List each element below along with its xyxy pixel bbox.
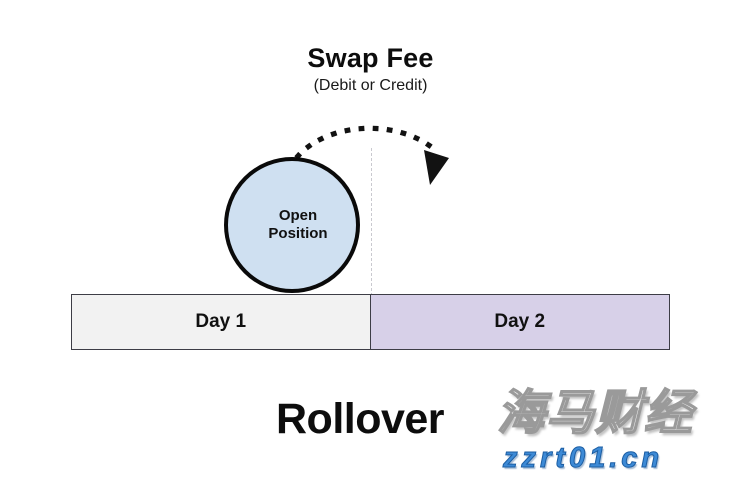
rollover-caption: Rollover [276,398,444,441]
open-position-label: Open Position [256,207,327,244]
title-block: Swap Fee (Debit or Credit) [0,44,741,95]
watermark: 海马财经 zzrt01.cn [497,390,729,482]
page-subtitle: (Debit or Credit) [0,78,741,95]
page-title: Swap Fee [0,44,741,72]
diagram-canvas: Swap Fee (Debit or Credit) Open Position… [0,0,741,486]
open-position-circle: Open Position [224,157,360,293]
day-1-segment: Day 1 [72,295,371,349]
day-boundary-dashed-line [371,148,372,296]
day-2-label: Day 2 [494,311,545,333]
day-1-label: Day 1 [195,311,246,333]
watermark-domain-text: zzrt01.cn [503,444,663,473]
day-2-segment: Day 2 [371,295,670,349]
watermark-brand-text: 海马财经 [497,390,693,438]
timeline-bar: Day 1 Day 2 [71,294,670,350]
